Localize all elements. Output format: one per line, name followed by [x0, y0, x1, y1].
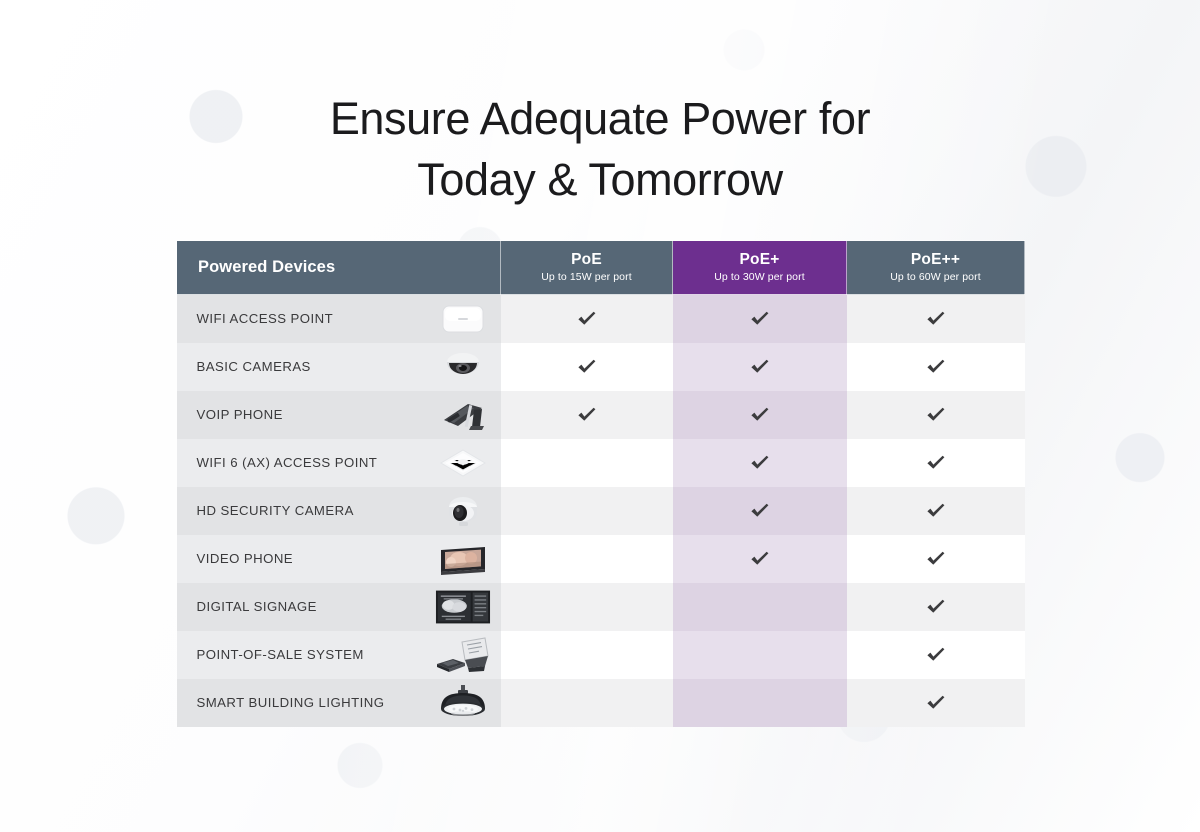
table-row: DIGITAL SIGNAGE — [177, 583, 1025, 631]
device-label: WIFI 6 (AX) ACCESS POINT — [197, 455, 378, 470]
checkmark-icon — [749, 404, 771, 426]
checkmark-icon — [925, 692, 947, 714]
support-cell-poe-plus — [673, 487, 847, 535]
checkmark-icon — [576, 356, 598, 378]
support-cell-poe-plus-plus — [847, 439, 1025, 487]
point-of-sale-icon — [435, 635, 491, 675]
header-poe-plus-plus-sub: Up to 60W per port — [847, 270, 1024, 284]
device-cell: WIFI 6 (AX) ACCESS POINT — [177, 439, 501, 487]
support-cell-poe — [501, 535, 673, 583]
checkmark-icon — [749, 356, 771, 378]
checkmark-icon — [749, 452, 771, 474]
support-cell-poe-plus — [673, 583, 847, 631]
support-cell-poe-plus-plus — [847, 343, 1025, 391]
support-cell-poe-plus-plus — [847, 295, 1025, 343]
device-label: VIDEO PHONE — [197, 551, 294, 566]
checkmark-icon — [749, 308, 771, 330]
device-label: DIGITAL SIGNAGE — [197, 599, 317, 614]
device-cell: DIGITAL SIGNAGE — [177, 583, 501, 631]
support-cell-poe-plus — [673, 295, 847, 343]
support-cell-poe — [501, 343, 673, 391]
checkmark-icon — [925, 452, 947, 474]
dome-camera-icon — [435, 347, 491, 387]
device-label: BASIC CAMERAS — [197, 359, 311, 374]
support-cell-poe-plus — [673, 679, 847, 727]
table-row: BASIC CAMERAS — [177, 343, 1025, 391]
video-phone-icon — [435, 539, 491, 579]
device-label: POINT-OF-SALE SYSTEM — [197, 647, 364, 662]
checkmark-icon — [925, 404, 947, 426]
support-cell-poe — [501, 631, 673, 679]
device-cell: VOIP PHONE — [177, 391, 501, 439]
support-cell-poe-plus-plus — [847, 583, 1025, 631]
digital-signage-icon — [435, 587, 491, 627]
header-column-poe-plus-plus: PoE++ Up to 60W per port — [847, 241, 1025, 295]
table-row: WIFI 6 (AX) ACCESS POINT — [177, 439, 1025, 487]
device-cell: POINT-OF-SALE SYSTEM — [177, 631, 501, 679]
support-cell-poe-plus-plus — [847, 487, 1025, 535]
support-cell-poe-plus — [673, 391, 847, 439]
support-cell-poe-plus — [673, 535, 847, 583]
support-cell-poe-plus — [673, 343, 847, 391]
support-cell-poe-plus-plus — [847, 679, 1025, 727]
page-title-line-1: Ensure Adequate Power for — [0, 88, 1200, 149]
wifi6-access-point-icon — [435, 443, 491, 483]
device-cell: BASIC CAMERAS — [177, 343, 501, 391]
support-cell-poe-plus — [673, 439, 847, 487]
support-cell-poe — [501, 439, 673, 487]
support-cell-poe — [501, 679, 673, 727]
checkmark-icon — [749, 500, 771, 522]
header-poe-plus-name: PoE+ — [673, 251, 846, 269]
table-row: POINT-OF-SALE SYSTEM — [177, 631, 1025, 679]
device-label: VOIP PHONE — [197, 407, 283, 422]
wifi-access-point-icon — [435, 299, 491, 339]
support-cell-poe — [501, 583, 673, 631]
page-title: Ensure Adequate Power for Today & Tomorr… — [0, 88, 1200, 210]
table-row: HD SECURITY CAMERA — [177, 487, 1025, 535]
support-cell-poe — [501, 295, 673, 343]
header-poe-plus-plus-name: PoE++ — [847, 251, 1024, 269]
device-label: HD SECURITY CAMERA — [197, 503, 354, 518]
support-cell-poe-plus — [673, 631, 847, 679]
checkmark-icon — [925, 548, 947, 570]
header-poe-sub: Up to 15W per port — [501, 270, 672, 284]
page-title-line-2: Today & Tomorrow — [0, 149, 1200, 210]
support-cell-poe — [501, 391, 673, 439]
table-row: VIDEO PHONE — [177, 535, 1025, 583]
checkmark-icon — [925, 644, 947, 666]
table-row: VOIP PHONE — [177, 391, 1025, 439]
voip-desk-phone-icon — [435, 395, 491, 435]
checkmark-icon — [925, 356, 947, 378]
turret-camera-icon — [435, 491, 491, 531]
checkmark-icon — [749, 548, 771, 570]
checkmark-icon — [925, 308, 947, 330]
device-cell: SMART BUILDING LIGHTING — [177, 679, 501, 727]
high-bay-light-icon — [435, 683, 491, 723]
device-label: WIFI ACCESS POINT — [197, 311, 334, 326]
header-column-poe-plus: PoE+ Up to 30W per port — [673, 241, 847, 295]
checkmark-icon — [925, 500, 947, 522]
support-cell-poe-plus-plus — [847, 631, 1025, 679]
header-powered-devices: Powered Devices — [177, 241, 501, 295]
device-cell: WIFI ACCESS POINT — [177, 295, 501, 343]
support-cell-poe — [501, 487, 673, 535]
poe-comparison-table: Powered Devices PoE Up to 15W per port P… — [176, 240, 1024, 727]
header-poe-name: PoE — [501, 251, 672, 269]
header-poe-plus-sub: Up to 30W per port — [673, 270, 846, 284]
support-cell-poe-plus-plus — [847, 535, 1025, 583]
checkmark-icon — [925, 596, 947, 618]
device-cell: HD SECURITY CAMERA — [177, 487, 501, 535]
table-header-row: Powered Devices PoE Up to 15W per port P… — [177, 241, 1025, 295]
table-row: SMART BUILDING LIGHTING — [177, 679, 1025, 727]
header-column-poe: PoE Up to 15W per port — [501, 241, 673, 295]
support-cell-poe-plus-plus — [847, 391, 1025, 439]
device-cell: VIDEO PHONE — [177, 535, 501, 583]
device-label: SMART BUILDING LIGHTING — [197, 695, 385, 710]
checkmark-icon — [576, 308, 598, 330]
checkmark-icon — [576, 404, 598, 426]
table-row: WIFI ACCESS POINT — [177, 295, 1025, 343]
